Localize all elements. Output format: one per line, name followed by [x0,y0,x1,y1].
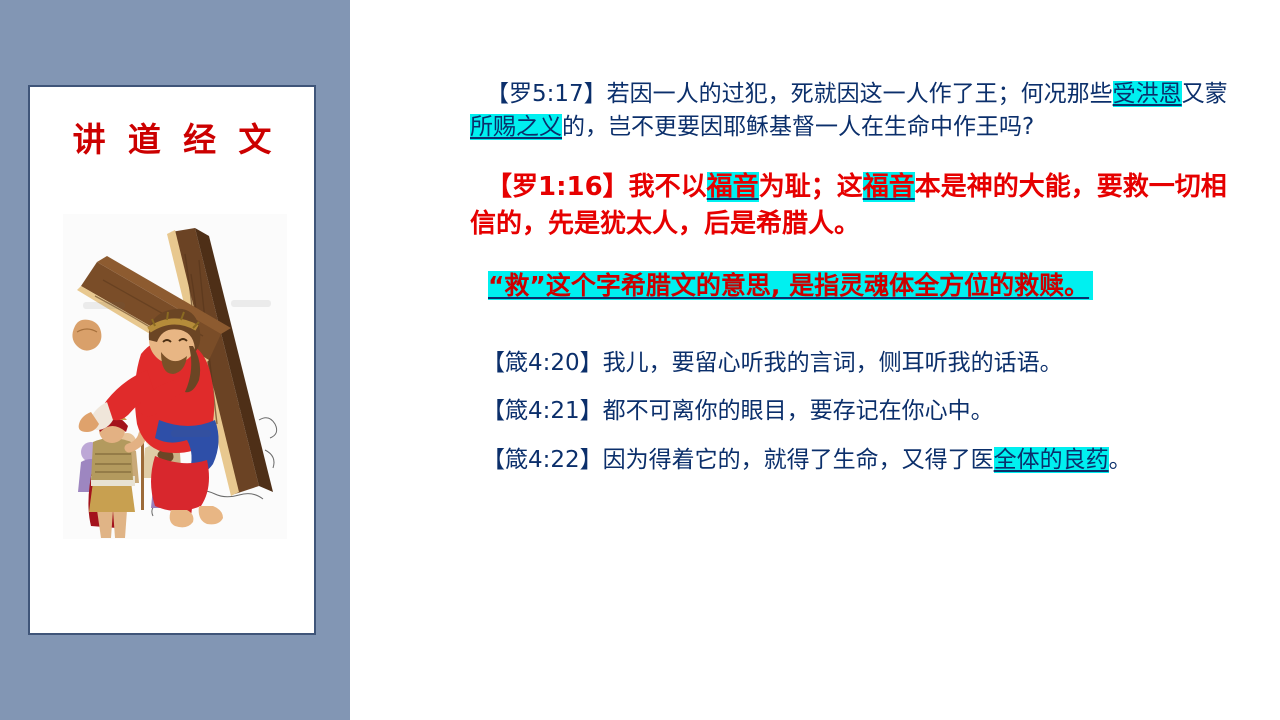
left-blue-panel: 讲 道 经 文 [0,0,350,720]
highlight-quanti-de-liangyao: 全体的良药 [994,447,1109,473]
highlight-fuyin-2: 福音 [863,172,915,202]
verse-romans-1-16: 【罗1:16】我不以福音为耻；这福音本是神的大能，要救一切相信的，先是犹太人，后… [470,169,1230,243]
commentary-salvation-meaning: “救”这个字希腊文的意思, 是指灵魂体全方位的救赎。 [470,267,1230,305]
verse-text-segment: 为耻；这 [759,172,863,202]
verse-proverbs-4-20: 【箴4:20】我儿，要留心听我的言词，侧耳听我的话语。 [470,347,1230,380]
verse-romans-5-17: 【罗5:17】若因一人的过犯，死就因这一人作了王；何况那些受洪恩又蒙所赐之义的，… [470,78,1230,143]
commentary-text: “救”这个字希腊文的意思, 是指灵魂体全方位的救赎。 [488,271,1093,300]
verse-proverbs-4-21: 【箴4:21】都不可离你的眼目，要存记在你心中。 [470,395,1230,428]
highlight-shou-hong-en: 受洪恩 [1113,81,1182,107]
verse-proverbs-4-22: 【箴4:22】因为得着它的，就得了生命，又得了医全体的良药。 [470,444,1230,477]
verse-text-segment: 【罗5:17】若因一人的过犯，死就因这一人作了王；何况那些 [486,81,1113,107]
jesus-carrying-cross-image [63,214,287,539]
verse-text-segment: 又蒙 [1182,81,1228,107]
content-spacer [470,333,1230,347]
title-image-card: 讲 道 经 文 [28,85,316,635]
verse-text-segment: 。 [1109,447,1132,473]
verse-text-segment: 【箴4:20】我儿，要留心听我的言词，侧耳听我的话语。 [482,350,1063,376]
verse-text-segment: 【箴4:21】都不可离你的眼目，要存记在你心中。 [482,398,994,424]
highlight-fuyin-1: 福音 [707,172,759,202]
scripture-content: 【罗5:17】若因一人的过犯，死就因这一人作了王；何况那些受洪恩又蒙所赐之义的，… [470,78,1230,493]
highlight-suo-ci-zhi-yi: 所赐之义 [470,114,562,140]
verse-text-segment: 【箴4:22】因为得着它的，就得了生命，又得了医 [482,447,994,473]
verse-text-segment: 【罗1:16】我不以 [486,172,707,202]
slide-root: 讲 道 经 文 [0,0,1280,720]
verse-text-segment: 的，岂不更要因耶稣基督一人在生命中作王吗? [562,114,1034,140]
card-title: 讲 道 经 文 [30,113,314,161]
